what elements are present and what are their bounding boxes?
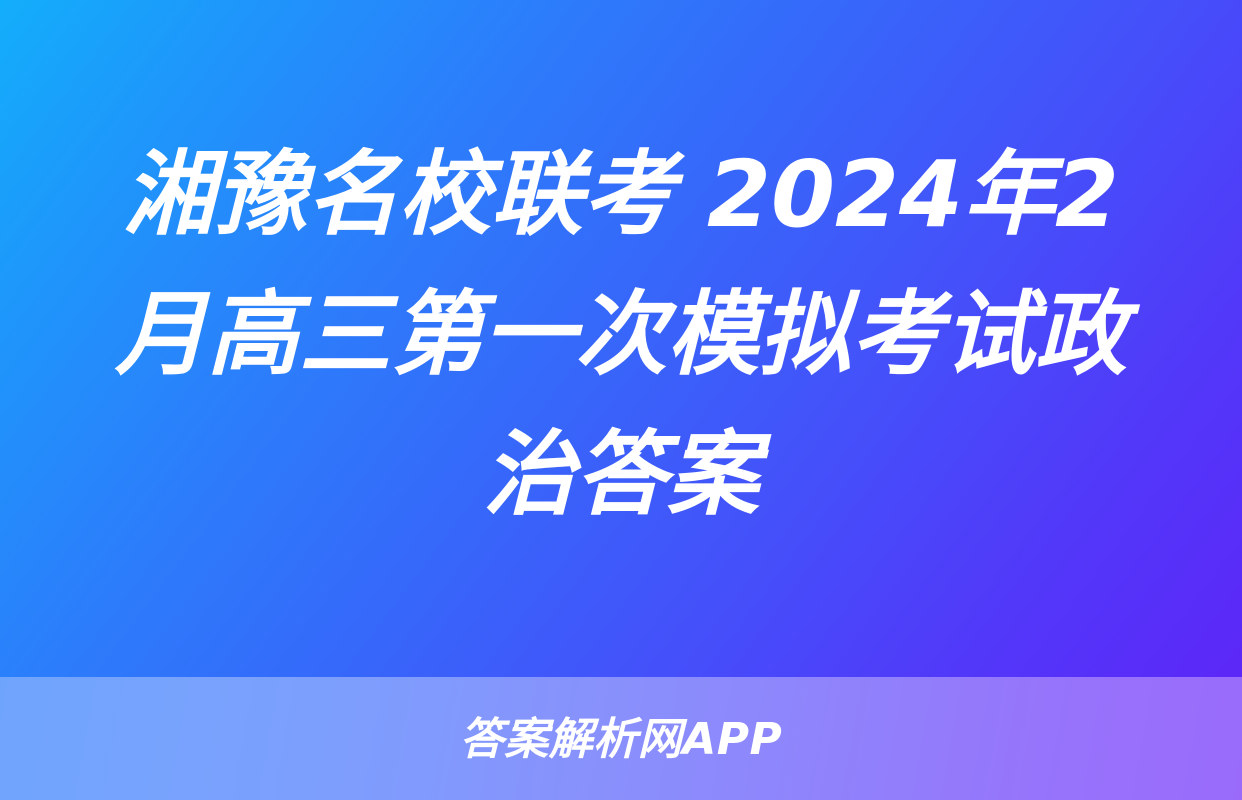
footer-watermark-band: 答案解析网APP (0, 677, 1242, 800)
app-watermark-label: 答案解析网APP (460, 715, 783, 765)
answer-poster: 湘豫名校联考 2024年2月高三第一次模拟考试政治答案 答案解析网APP (0, 0, 1242, 800)
page-title: 湘豫名校联考 2024年2月高三第一次模拟考试政治答案 (81, 125, 1161, 545)
hero-gradient-panel: 湘豫名校联考 2024年2月高三第一次模拟考试政治答案 (0, 0, 1242, 677)
